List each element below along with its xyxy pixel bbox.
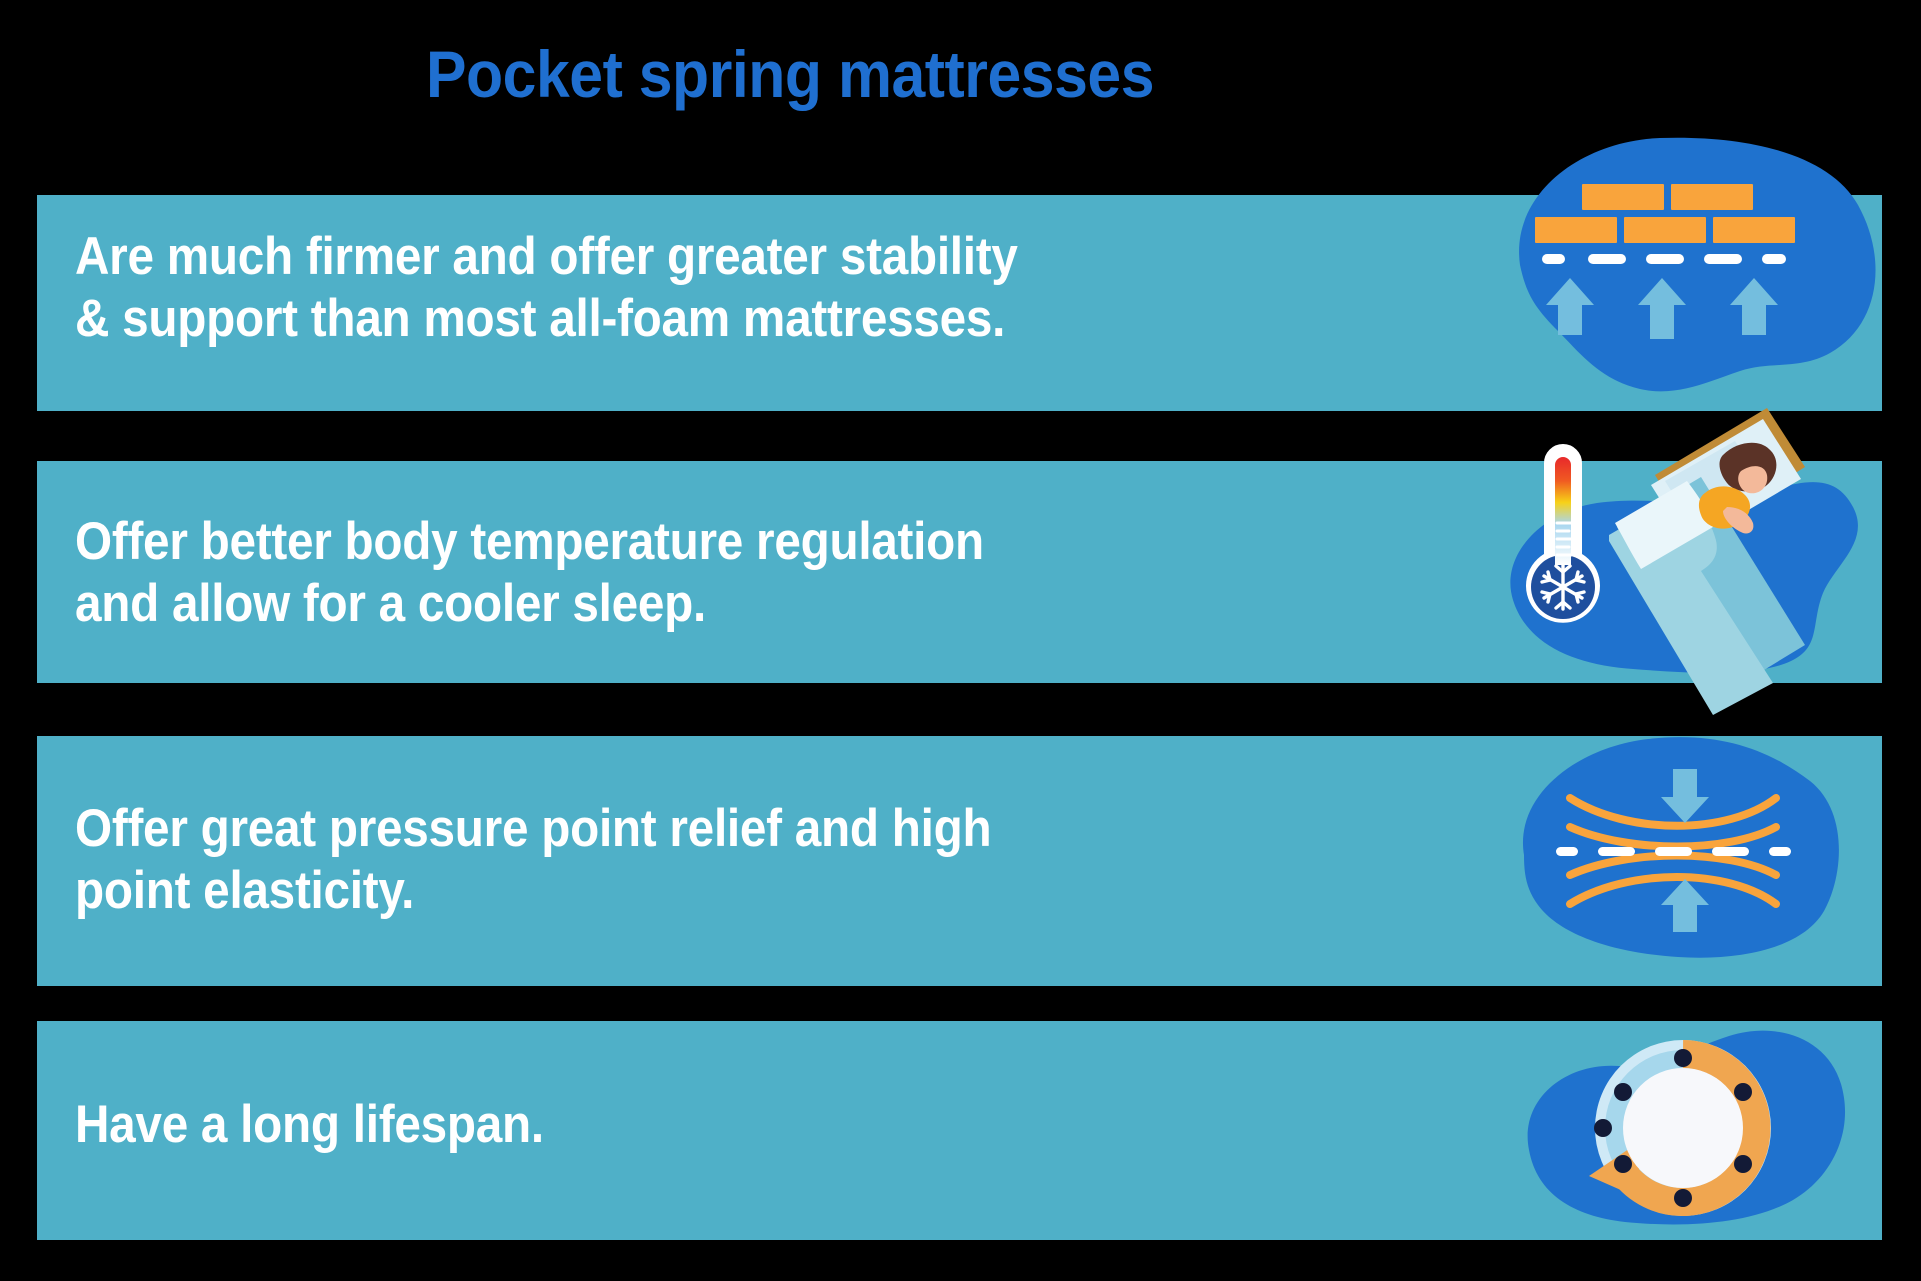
infographic-canvas: Pocket spring mattresses Are much firmer… <box>0 0 1921 1281</box>
benefit-row-lifespan: Have a long lifespan. <box>37 1021 1882 1240</box>
benefit-row-pressure-relief: Offer great pressure point relief and hi… <box>37 736 1882 986</box>
benefit-text: Offer better body temperature regulation… <box>75 511 984 635</box>
page-title: Pocket spring mattresses <box>63 40 1517 109</box>
benefit-text: Offer great pressure point relief and hi… <box>75 798 991 922</box>
benefit-row-temperature-regulation: Offer better body temperature regulation… <box>37 461 1882 683</box>
benefit-row-firmness-support: Are much firmer and offer greater stabil… <box>37 195 1882 411</box>
benefit-text: Have a long lifespan. <box>75 1094 544 1156</box>
benefit-text: Are much firmer and offer greater stabil… <box>75 226 1018 350</box>
